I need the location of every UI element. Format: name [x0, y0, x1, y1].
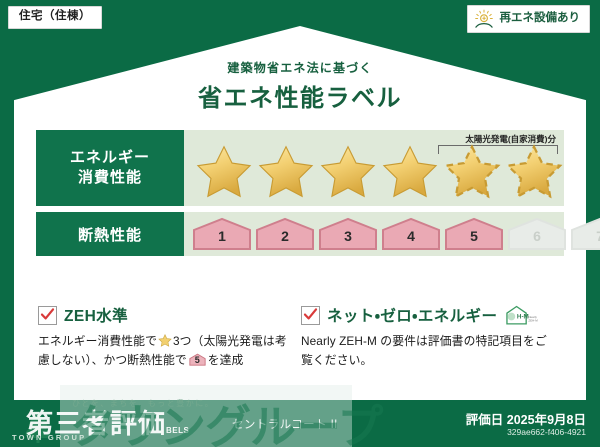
- renewable-badge-label: 再エネ設備あり: [500, 13, 581, 25]
- inline-house-number: 5: [189, 356, 206, 365]
- insulation-level-number: 6: [507, 229, 567, 243]
- insulation-performance-label: 断熱性能: [36, 212, 184, 256]
- renewable-equipment-badge: 再エネ設備あり: [467, 5, 591, 33]
- svg-text:H-M: H-M: [517, 314, 529, 321]
- insulation-level-scale: 1234567: [192, 217, 558, 251]
- zeh-standard-panel: ZEH水準 エネルギー消費性能で 3つ（太陽光発電は考慮しない）、かつ断熱性能で…: [38, 304, 301, 370]
- inline-house-badge: 5: [189, 353, 206, 366]
- label-content: 建築物省エネ法に基づく 省エネ性能ラベル エネルギー 消費性能 太陽光発電(自家…: [14, 26, 586, 406]
- check-icon: [40, 307, 55, 322]
- zeh-panel-header: ZEH水準: [38, 304, 289, 326]
- insulation-level-number: 7: [570, 229, 600, 243]
- energy-performance-row: エネルギー 消費性能 太陽光発電(自家消費)分: [36, 130, 564, 206]
- insulation-level-number: 4: [381, 229, 441, 243]
- insulation-level-4: 4: [381, 217, 441, 251]
- star-solar-icon: [504, 144, 564, 202]
- energy-label-card: 住宅（住棟） 再エネ設備あり 建築物省エネ法に基づく 省エネ性能ラベル エネルギ…: [0, 0, 600, 447]
- nze-panel-title: ネット・ゼロ・エネルギー: [327, 304, 497, 326]
- page-title: 省エネ性能ラベル: [14, 78, 586, 113]
- insulation-level-number: 1: [192, 229, 252, 243]
- insulation-level-number: 5: [444, 229, 504, 243]
- insulation-level-5: 5: [444, 217, 504, 251]
- energy-performance-value: 太陽光発電(自家消費)分: [184, 130, 564, 206]
- rating-rows: エネルギー 消費性能 太陽光発電(自家消費)分 断熱性能 1234567: [36, 130, 564, 262]
- energy-label-line1: エネルギー: [70, 148, 150, 168]
- zeh-body-part3: を達成: [208, 353, 244, 367]
- star-filled-icon: [194, 144, 254, 202]
- house-type-tag: 住宅（住棟）: [8, 6, 102, 29]
- star-filled-icon: [318, 144, 378, 202]
- net-zero-energy-panel: ネット・ゼロ・エネルギー H-M Nearly ZEH-M Nearly ZEH…: [301, 304, 564, 370]
- insulation-performance-value: 1234567: [184, 212, 564, 256]
- insulation-level-3: 3: [318, 217, 378, 251]
- evaluation-id: 329ae662-f406-4921: [507, 427, 586, 437]
- zeh-body-part1: エネルギー消費性能で: [38, 334, 157, 348]
- title-subtitle: 建築物省エネ法に基づく: [14, 59, 586, 76]
- evaluation-date: 評価日 2025年9月8日: [466, 409, 586, 428]
- evaluation-date-value: 2025年9月8日: [507, 413, 586, 427]
- nze-panel-body: Nearly ZEH-M の要件は評価書の特記項目をご覧ください。: [301, 332, 552, 370]
- evaluation-date-label: 評価日: [466, 413, 504, 427]
- insulation-level-7: 7: [570, 217, 600, 251]
- star-icon: [158, 334, 172, 347]
- insulation-level-2: 2: [255, 217, 315, 251]
- insulation-level-6: 6: [507, 217, 567, 251]
- zeh-panel-body: エネルギー消費性能で 3つ（太陽光発電は考慮しない）、かつ断熱性能で 5 を達成: [38, 332, 289, 370]
- star-rating: [194, 144, 558, 202]
- sun-icon: [473, 9, 495, 29]
- zeh-panel-title: ZEH水準: [64, 304, 128, 326]
- energy-performance-label: エネルギー 消費性能: [36, 130, 184, 206]
- energy-label-line2: 消費性能: [78, 168, 142, 188]
- svg-text:ZEH-M: ZEH-M: [529, 319, 539, 323]
- check-icon: [303, 307, 318, 322]
- star-filled-icon: [380, 144, 440, 202]
- insulation-label-text: 断熱性能: [78, 224, 142, 245]
- nze-panel-header: ネット・ゼロ・エネルギー H-M Nearly ZEH-M: [301, 304, 552, 326]
- zeh-checkbox: [38, 306, 57, 325]
- katakana-watermark: タウングループ: [70, 391, 382, 447]
- zeh-m-icon: H-M Nearly ZEH-M: [504, 304, 538, 326]
- nze-checkbox: [301, 306, 320, 325]
- insulation-level-number: 2: [255, 229, 315, 243]
- star-solar-icon: [442, 144, 502, 202]
- star-filled-icon: [256, 144, 316, 202]
- inline-star-icon: [158, 334, 172, 347]
- certification-panels: ZEH水準 エネルギー消費性能で 3つ（太陽光発電は考慮しない）、かつ断熱性能で…: [38, 304, 564, 370]
- insulation-level-1: 1: [192, 217, 252, 251]
- insulation-level-number: 3: [318, 229, 378, 243]
- insulation-performance-row: 断熱性能 1234567: [36, 212, 564, 256]
